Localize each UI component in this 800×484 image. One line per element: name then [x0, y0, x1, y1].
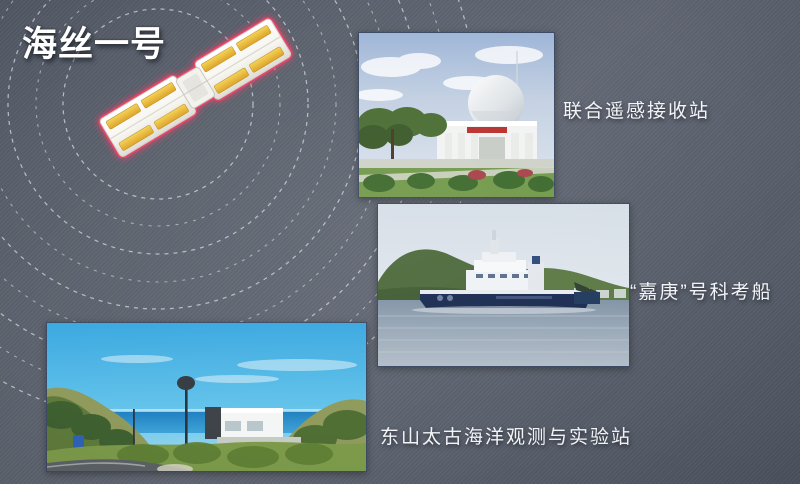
label-receiving-station: 联合遥感接收站 [563, 96, 710, 123]
photo-coastal-station [46, 322, 367, 472]
receiving-station-image [359, 33, 554, 197]
label-research-vessel: “嘉庚”号科考船 [630, 277, 773, 304]
poster-canvas: 海丝一号 [0, 0, 800, 484]
photo-research-vessel [377, 203, 630, 367]
label-coastal-station: 东山太古海洋观测与实验站 [380, 422, 632, 449]
photo-receiving-station [358, 32, 555, 198]
research-vessel-image [378, 204, 629, 366]
coastal-station-image [47, 323, 366, 471]
page-title: 海丝一号 [22, 16, 166, 67]
